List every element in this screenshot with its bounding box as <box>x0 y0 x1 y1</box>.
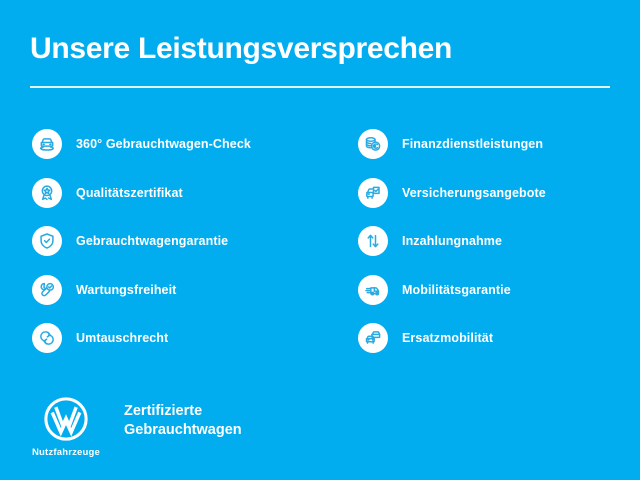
footer-line-1: Zertifizierte <box>124 402 242 421</box>
benefit-item: Versicherungsangebote <box>358 169 633 218</box>
benefit-label: Inzahlungnahme <box>402 234 502 248</box>
footer-text: Zertifizierte Gebrauchtwagen <box>124 402 242 440</box>
benefit-label: Gebrauchtwagengarantie <box>76 234 228 248</box>
slide-root: Unsere Leistungsversprechen 360° Gebrauc… <box>0 0 640 480</box>
header-divider <box>30 86 610 88</box>
benefit-label: Ersatzmobilität <box>402 331 493 345</box>
benefit-item: Inzahlungnahme <box>358 217 633 266</box>
arrows-up-down-icon <box>358 226 388 256</box>
benefits-column-right: Finanzdienstleistungen Versicherungsange… <box>358 120 633 363</box>
benefit-label: Versicherungsangebote <box>402 186 546 200</box>
benefit-label: Wartungsfreiheit <box>76 283 176 297</box>
vw-logo-subtitle: Nutzfahrzeuge <box>32 447 100 458</box>
benefit-item: Ersatzmobilität <box>358 314 633 363</box>
page-title: Unsere Leistungsversprechen <box>30 30 452 68</box>
car-360-check-icon <box>32 129 62 159</box>
award-rosette-icon <box>32 178 62 208</box>
benefit-label: Qualitätszertifikat <box>76 186 183 200</box>
coins-euro-icon <box>358 129 388 159</box>
two-cars-icon <box>358 323 388 353</box>
benefit-label: Finanzdienstleistungen <box>402 137 543 151</box>
benefit-item: Finanzdienstleistungen <box>358 120 633 169</box>
vw-logo <box>43 396 89 442</box>
benefit-item: 360° Gebrauchtwagen-Check <box>32 120 332 169</box>
car-document-check-icon <box>358 178 388 208</box>
benefit-label: 360° Gebrauchtwagen-Check <box>76 137 251 151</box>
exchange-arrows-icon <box>32 323 62 353</box>
vw-logo-block: Nutzfahrzeuge <box>30 396 102 458</box>
footer-line-2: Gebrauchtwagen <box>124 421 242 440</box>
van-motion-icon <box>358 275 388 305</box>
wrench-check-icon <box>32 275 62 305</box>
benefit-label: Mobilitätsgarantie <box>402 283 511 297</box>
footer: Nutzfahrzeuge Zertifizierte Gebrauchtwag… <box>30 396 242 458</box>
benefits-column-left: 360° Gebrauchtwagen-Check Qualitätszerti… <box>32 120 332 363</box>
benefit-item: Wartungsfreiheit <box>32 266 332 315</box>
benefit-item: Umtauschrecht <box>32 314 332 363</box>
shield-check-icon <box>32 226 62 256</box>
benefit-item: Mobilitätsgarantie <box>358 266 633 315</box>
benefit-item: Gebrauchtwagengarantie <box>32 217 332 266</box>
benefit-label: Umtauschrecht <box>76 331 168 345</box>
benefit-item: Qualitätszertifikat <box>32 169 332 218</box>
